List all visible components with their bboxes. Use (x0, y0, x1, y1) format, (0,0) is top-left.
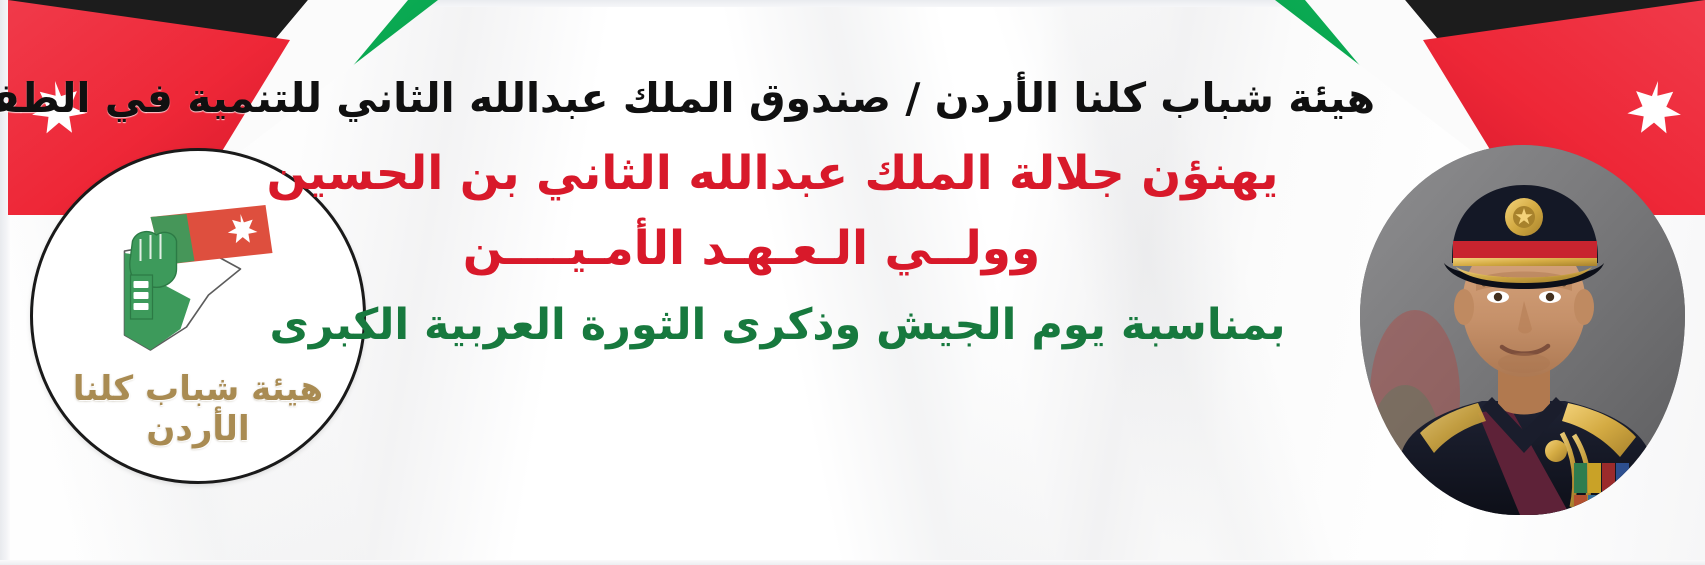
organization-line: هيئة شباب كلنا الأردن / صندوق الملك عبدا… (170, 76, 1375, 122)
banner-text-block: هيئة شباب كلنا الأردن / صندوق الملك عبدا… (170, 76, 1375, 349)
occasion-line: بمناسبة يوم الجيش وذكرى الثورة العربية ا… (170, 301, 1385, 349)
congratulation-line: يهنؤن جلالة الملك عبدالله الثاني بن الحس… (170, 148, 1375, 201)
crown-prince-line: وولــي الـعـهـد الأمـيــــن (170, 223, 1333, 276)
logo-caption: هيئة شباب كلنا الأردن (33, 369, 363, 449)
greeting-banner: هيئة شباب كلنا الأردن (0, 0, 1705, 565)
portrait-illustration (1360, 145, 1685, 515)
king-portrait (1360, 145, 1685, 515)
bottom-edge-strip (0, 560, 1705, 565)
